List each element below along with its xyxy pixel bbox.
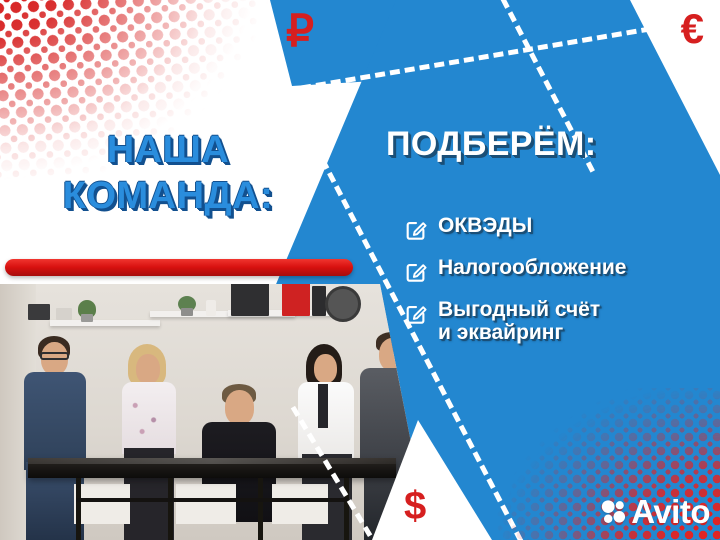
- ruble-symbol-icon: ₽: [286, 10, 314, 54]
- list-item-label: ОКВЭДЫ: [438, 214, 532, 237]
- services-list: ОКВЭДЫ Налогообложение Выгодный счёт и э…: [404, 214, 716, 358]
- red-divider-bar: [5, 259, 353, 276]
- right-heading: ПОДБЕРЁМ:: [386, 124, 596, 164]
- pencil-edit-icon: [404, 301, 428, 326]
- poster-canvas: ₽ € НАША КОМАНДА:: [0, 0, 720, 540]
- list-item: Выгодный счёт и эквайринг: [404, 298, 716, 344]
- team-photo: [0, 284, 430, 540]
- pencil-edit-icon: [404, 259, 428, 284]
- dollar-symbol-icon: $: [404, 486, 426, 526]
- avito-dots-icon: [600, 498, 627, 525]
- euro-symbol-icon: €: [681, 8, 704, 50]
- avito-wordmark: Avito: [631, 495, 710, 528]
- list-item-label: Выгодный счёт и эквайринг: [438, 298, 600, 344]
- list-item-label: Налогообложение: [438, 256, 627, 279]
- list-item: ОКВЭДЫ: [404, 214, 716, 242]
- pencil-edit-icon: [404, 217, 428, 242]
- avito-logo: Avito: [600, 495, 710, 528]
- left-heading: НАША КОМАНДА:: [18, 127, 318, 219]
- list-item: Налогообложение: [404, 256, 716, 284]
